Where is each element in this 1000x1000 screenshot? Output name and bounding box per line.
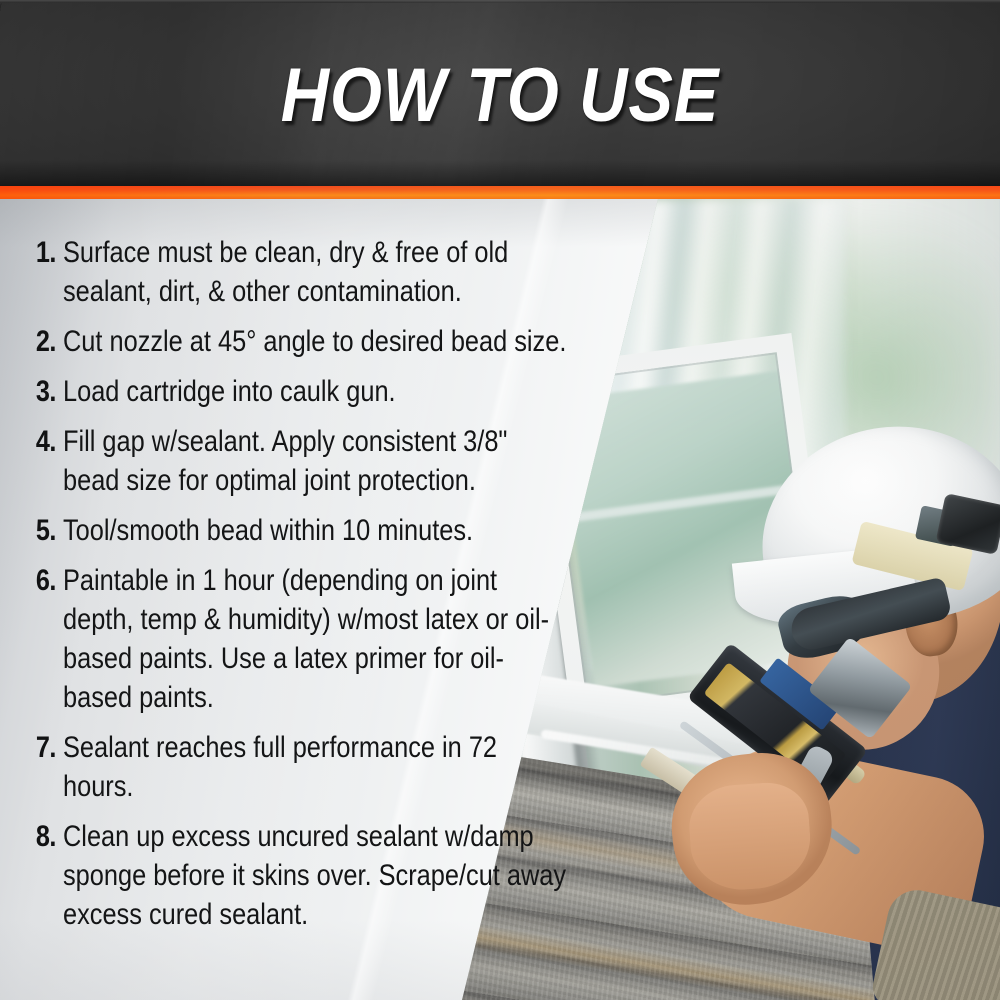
header-bottom-shadow bbox=[0, 160, 1000, 186]
list-item-text: Fill gap w/sealant. Apply consistent 3/8… bbox=[63, 422, 567, 500]
list-item: 8. Clean up excess uncured sealant w/dam… bbox=[0, 817, 660, 934]
orange-accent-rule bbox=[0, 186, 1000, 199]
list-item: 5. Tool/smooth bead within 10 minutes. bbox=[0, 511, 660, 550]
page-title: HOW TO USE bbox=[60, 0, 940, 186]
list-item-text: Clean up excess uncured sealant w/damp s… bbox=[63, 817, 567, 934]
list-item-text: Surface must be clean, dry & free of old… bbox=[63, 233, 567, 311]
list-item-text: Paintable in 1 hour (depending on joint … bbox=[63, 561, 567, 717]
list-item: 7. Sealant reaches full performance in 7… bbox=[0, 728, 660, 806]
list-item-number: 4. bbox=[27, 422, 56, 461]
list-item-number: 8. bbox=[27, 817, 56, 856]
header-banner: HOW TO USE bbox=[0, 0, 1000, 186]
list-item-number: 3. bbox=[27, 372, 56, 411]
list-item-number: 1. bbox=[27, 233, 56, 272]
list-item: 4. Fill gap w/sealant. Apply consistent … bbox=[0, 422, 660, 500]
list-item: 6. Paintable in 1 hour (depending on joi… bbox=[0, 561, 660, 717]
instruction-list: 1. Surface must be clean, dry & free of … bbox=[0, 199, 660, 1000]
list-item-number: 5. bbox=[27, 511, 56, 550]
list-item-text: Cut nozzle at 45° angle to desired bead … bbox=[63, 322, 567, 361]
list-item: 2. Cut nozzle at 45° angle to desired be… bbox=[0, 322, 660, 361]
list-item-number: 6. bbox=[27, 561, 56, 600]
list-item: 1. Surface must be clean, dry & free of … bbox=[0, 233, 660, 311]
list-item: 3. Load cartridge into caulk gun. bbox=[0, 372, 660, 411]
list-item-text: Load cartridge into caulk gun. bbox=[63, 372, 567, 411]
list-item-text: Tool/smooth bead within 10 minutes. bbox=[63, 511, 567, 550]
list-item-number: 7. bbox=[27, 728, 56, 767]
list-item-text: Sealant reaches full performance in 72 h… bbox=[63, 728, 567, 806]
content-area: 1. Surface must be clean, dry & free of … bbox=[0, 199, 1000, 1000]
list-item-number: 2. bbox=[27, 322, 56, 361]
how-to-use-infographic: HOW TO USE bbox=[0, 0, 1000, 1000]
